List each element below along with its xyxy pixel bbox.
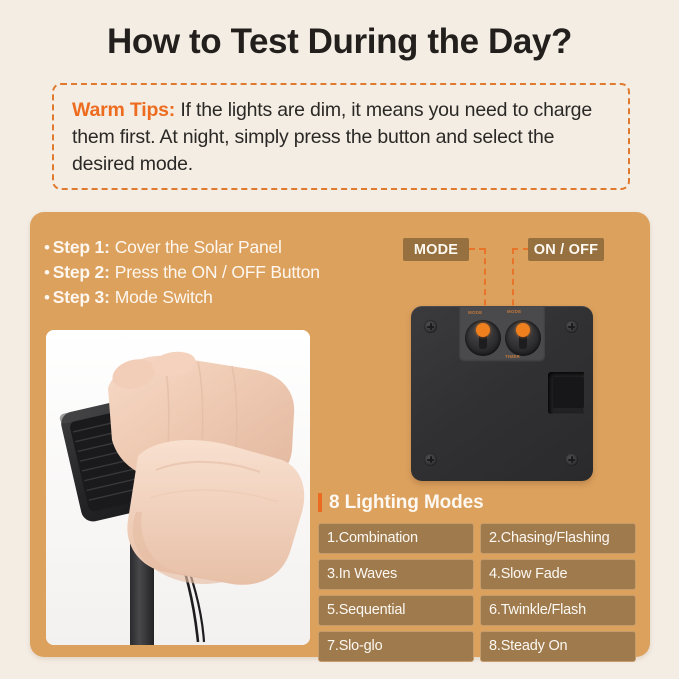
step-text: Mode Switch [115, 285, 213, 310]
mode-connector-horizontal [469, 248, 485, 250]
screw-icon [424, 320, 437, 333]
onoff-button[interactable] [505, 320, 541, 356]
step-item: • Step 1: Cover the Solar Panel [44, 235, 374, 260]
step-text: Press the ON / OFF Button [115, 260, 320, 285]
step-bullet-icon: • [44, 260, 50, 285]
mode-button-indicator [476, 323, 490, 337]
screw-icon [565, 320, 578, 333]
mode-cell: 8.Steady On [480, 631, 636, 662]
screw-icon [565, 453, 578, 466]
mode-cell: 2.Chasing/Flashing [480, 523, 636, 554]
step-bullet-icon: • [44, 285, 50, 310]
screw-icon [424, 453, 437, 466]
product-photo [46, 330, 310, 645]
steps-list: • Step 1: Cover the Solar Panel • Step 2… [44, 235, 374, 310]
mode-cell: 6.Twinkle/Flash [480, 595, 636, 626]
device-cap-onoff-bottom: TIMER [505, 354, 520, 359]
step-item: • Step 2: Press the ON / OFF Button [44, 260, 374, 285]
mode-cell: 1.Combination [318, 523, 474, 554]
step-item: • Step 3: Mode Switch [44, 285, 374, 310]
onoff-button-indicator [516, 323, 530, 337]
infographic-page: How to Test During the Day? Warm Tips: I… [0, 0, 679, 679]
controller-device-panel: MODE MODE TIMER [411, 306, 593, 481]
mode-button[interactable] [465, 320, 501, 356]
warm-tips-text: Warm Tips: If the lights are dim, it mea… [72, 97, 614, 178]
lighting-modes-title: 8 Lighting Modes [329, 493, 484, 512]
hand-covering-solar-panel-illustration [46, 330, 310, 645]
heading-accent-bar [318, 493, 322, 512]
battery-compartment-cutout [548, 372, 584, 414]
callout-onoff-label: ON / OFF [528, 238, 604, 261]
step-bullet-icon: • [44, 235, 50, 260]
mode-cell: 3.In Waves [318, 559, 474, 590]
cutout-inner-recess [553, 377, 584, 408]
mode-cell: 5.Sequential [318, 595, 474, 626]
callout-mode-label: MODE [403, 238, 469, 261]
lighting-modes-grid: 1.Combination 2.Chasing/Flashing 3.In Wa… [318, 523, 636, 662]
mode-cell: 4.Slow Fade [480, 559, 636, 590]
step-label: Step 2: [53, 260, 110, 285]
device-cap-onoff-top: MODE [507, 309, 521, 314]
page-title: How to Test During the Day? [0, 20, 679, 64]
onoff-connector-horizontal [512, 248, 529, 250]
step-text: Cover the Solar Panel [115, 235, 282, 260]
lighting-modes-heading: 8 Lighting Modes [318, 493, 484, 512]
device-cap-mode-top: MODE [468, 310, 482, 315]
step-label: Step 1: [53, 235, 110, 260]
warm-tips-label: Warm Tips: [72, 99, 175, 121]
warm-tips-box: Warm Tips: If the lights are dim, it mea… [52, 83, 630, 190]
step-label: Step 3: [53, 285, 110, 310]
mode-cell: 7.Slo-glo [318, 631, 474, 662]
